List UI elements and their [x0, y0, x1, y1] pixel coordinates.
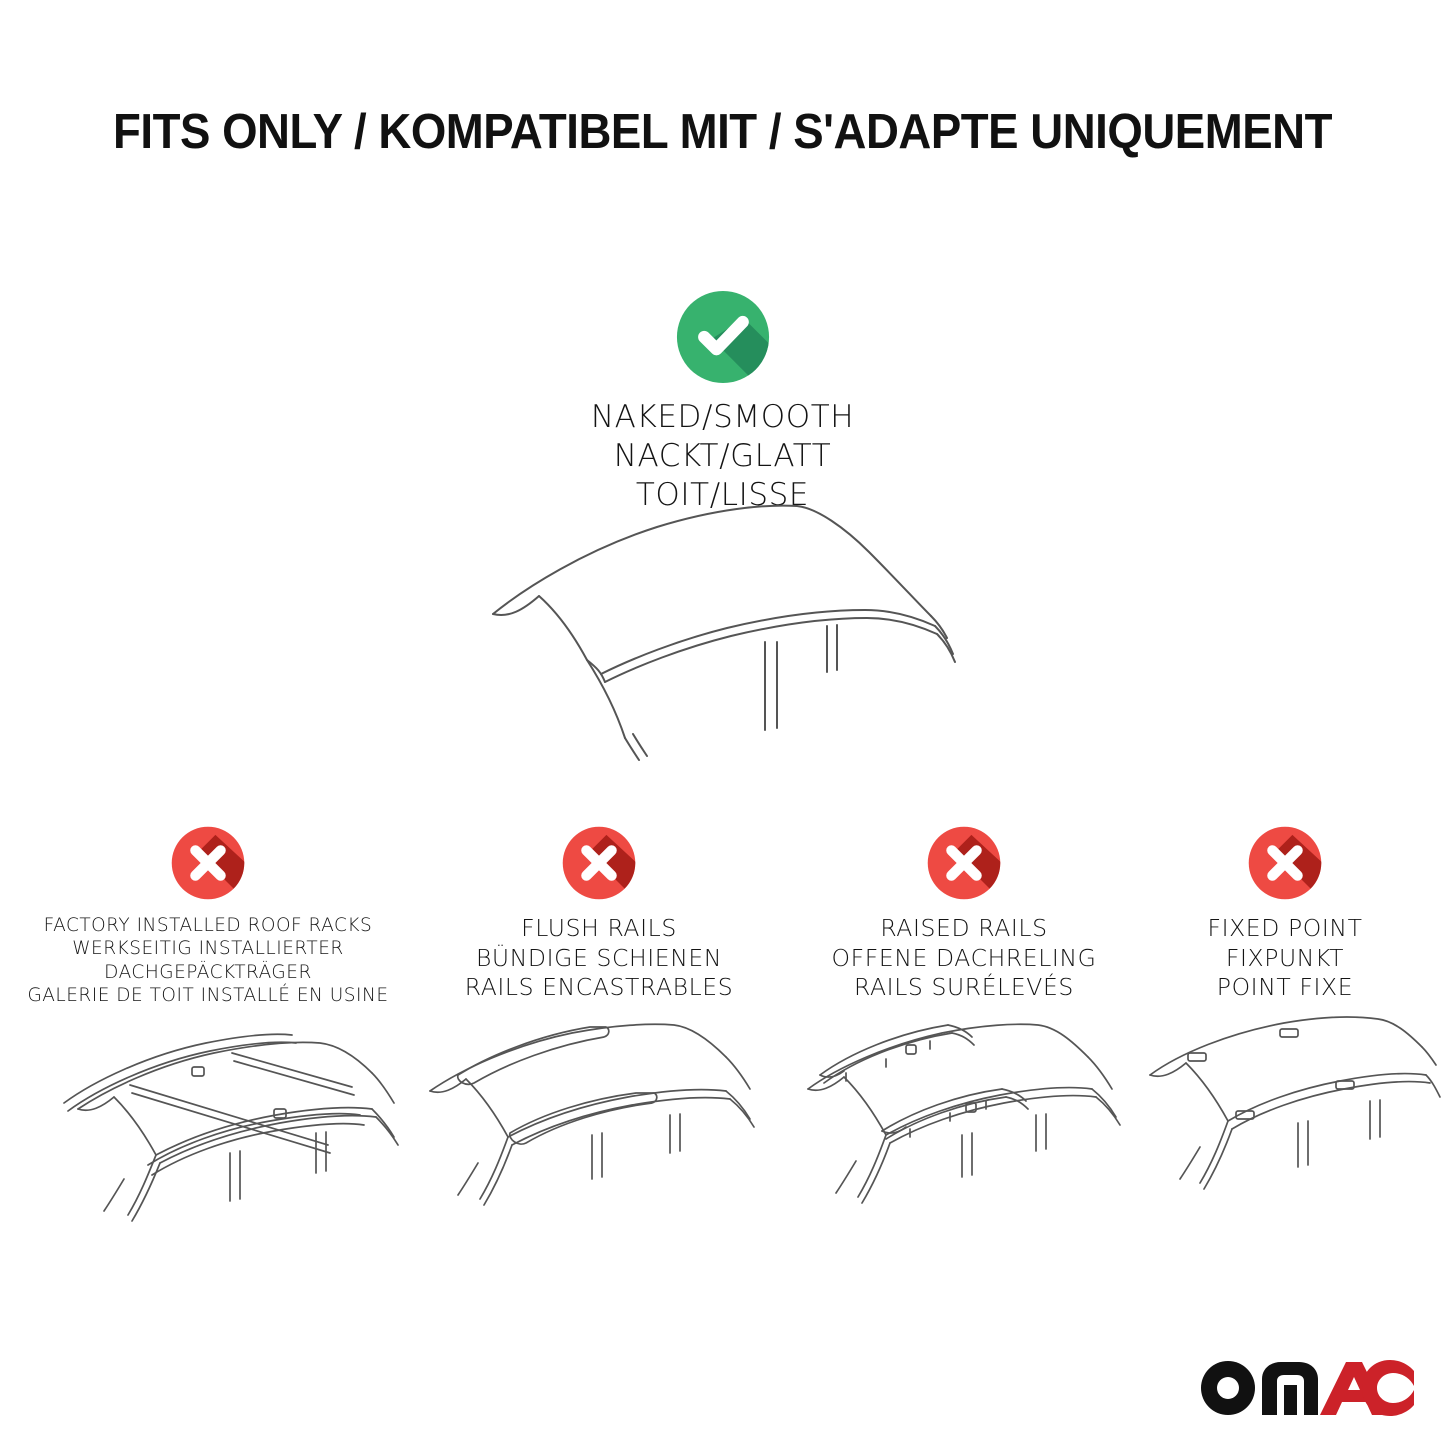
- label-line-1: RAISED RAILS: [832, 914, 1097, 944]
- label-line-3: POINT FIXE: [1207, 973, 1362, 1003]
- compatible-section: NAKED/SMOOTH NACKT/GLATT TOIT/LISSE: [0, 290, 1445, 515]
- label-line-4: GALERIE DE TOIT INSTALLÉ EN USINE: [27, 984, 388, 1007]
- compatible-label-line-2: NACKT/GLATT: [591, 437, 854, 476]
- incompatible-item-raised-rails: RAISED RAILS OFFENE DACHRELING RAILS SUR…: [790, 826, 1138, 1234]
- label-line-1: FIXED POINT: [1207, 914, 1362, 944]
- label-line-2: WERKSEITIG INSTALLIERTER: [27, 937, 388, 960]
- compatible-label-line-1: NAKED/SMOOTH: [591, 398, 854, 437]
- car-roof-factory-rack-drawing: [8, 1023, 408, 1238]
- incompatible-item-factory-installed-roof-racks: FACTORY INSTALLED ROOF RACKS WERKSEITIG …: [8, 826, 408, 1238]
- page-title: FITS ONLY / KOMPATIBEL MIT / S'ADAPTE UN…: [51, 104, 1395, 160]
- car-roof-raised-rails-drawing: [790, 1019, 1138, 1234]
- check-circle-icon: [676, 290, 770, 384]
- cross-circle-icon: [927, 826, 1001, 900]
- incompatible-section: FACTORY INSTALLED ROOF RACKS WERKSEITIG …: [0, 826, 1445, 1256]
- label-line-3: RAILS ENCASTRABLES: [465, 973, 734, 1003]
- car-roof-naked-smooth-drawing: [465, 492, 1005, 762]
- label-line-3: DACHGEPÄCKTRÄGER: [27, 961, 388, 984]
- cross-circle-icon: [1248, 826, 1322, 900]
- cross-circle-icon: [562, 826, 636, 900]
- car-roof-fixed-point-drawing: [1140, 1019, 1430, 1234]
- label-line-1: FACTORY INSTALLED ROOF RACKS: [27, 914, 388, 937]
- cross-circle-icon: [171, 826, 245, 900]
- omac-logo: [1196, 1357, 1414, 1419]
- label-line-2: FIXPUNKT: [1207, 944, 1362, 974]
- label-line-1: FLUSH RAILS: [465, 914, 734, 944]
- label-line-2: OFFENE DACHRELING: [832, 944, 1097, 974]
- incompatible-label-raised-rails: RAISED RAILS OFFENE DACHRELING RAILS SUR…: [832, 914, 1097, 1003]
- incompatible-label-factory-installed-roof-racks: FACTORY INSTALLED ROOF RACKS WERKSEITIG …: [27, 914, 388, 1007]
- car-roof-flush-rails-drawing: [410, 1019, 788, 1234]
- incompatible-label-flush-rails: FLUSH RAILS BÜNDIGE SCHIENEN RAILS ENCAS…: [465, 914, 734, 1003]
- label-line-3: RAILS SURÉLEVÉS: [832, 973, 1097, 1003]
- label-line-2: BÜNDIGE SCHIENEN: [465, 944, 734, 974]
- incompatible-item-flush-rails: FLUSH RAILS BÜNDIGE SCHIENEN RAILS ENCAS…: [410, 826, 788, 1234]
- incompatible-item-fixed-point: FIXED POINT FIXPUNKT POINT FIXE: [1140, 826, 1430, 1234]
- incompatible-label-fixed-point: FIXED POINT FIXPUNKT POINT FIXE: [1207, 914, 1362, 1003]
